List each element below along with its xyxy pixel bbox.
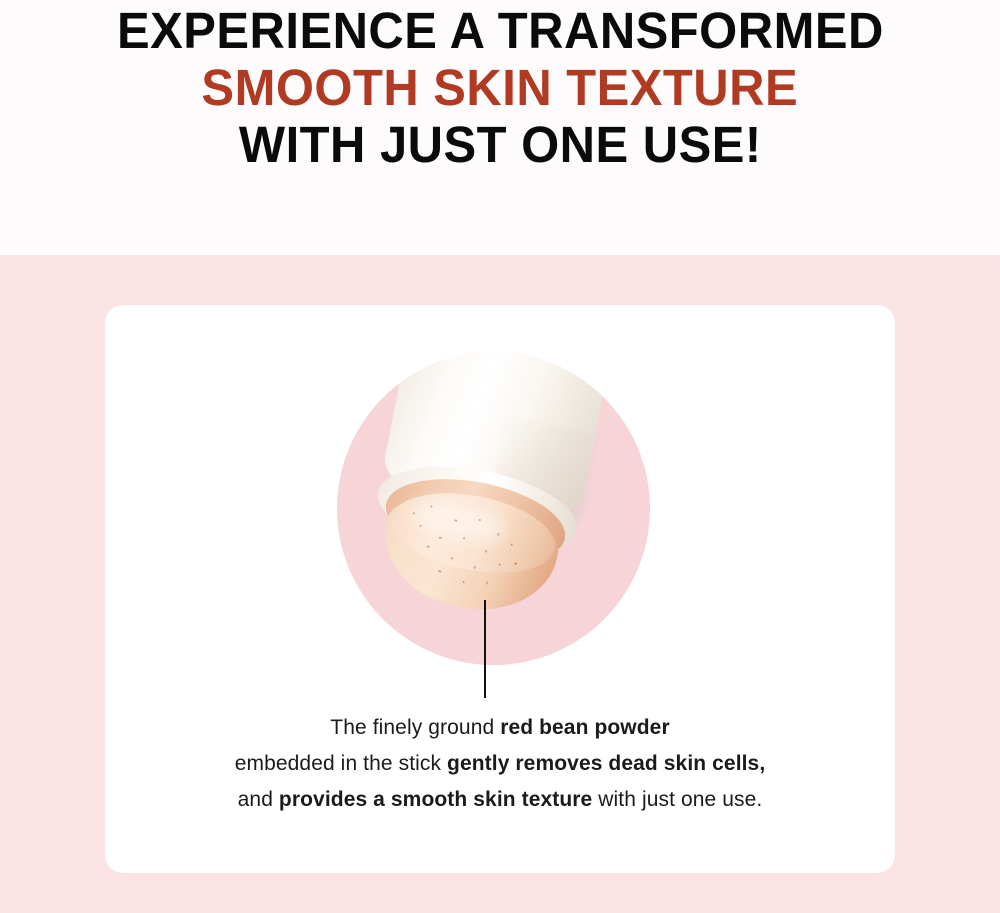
headline-line-2-accent: SMOOTH SKIN TEXTURE — [202, 59, 799, 116]
content-card: The finely ground red bean powder embedd… — [105, 305, 895, 873]
headline-section: EXPERIENCE A TRANSFORMED SMOOTH SKIN TEX… — [0, 0, 1000, 255]
powder-speck — [439, 537, 442, 540]
promotional-banner: EXPERIENCE A TRANSFORMED SMOOTH SKIN TEX… — [0, 0, 1000, 913]
caption-line-3: and provides a smooth skin texture with … — [105, 782, 895, 818]
caption-text: The finely ground — [330, 716, 500, 739]
caption-text: with just one use. — [592, 788, 762, 811]
product-caption: The finely ground red bean powder embedd… — [105, 710, 895, 818]
caption-line-1: The finely ground red bean powder — [105, 710, 895, 746]
caption-text: and — [238, 788, 279, 811]
headline-line-1: EXPERIENCE A TRANSFORMED — [117, 2, 884, 59]
caption-bold: red bean powder — [500, 716, 670, 739]
product-photo — [337, 352, 650, 665]
callout-pointer-line — [484, 600, 486, 698]
powder-speck — [514, 562, 517, 565]
caption-line-2: embedded in the stick gently removes dea… — [105, 746, 895, 782]
product-image-stage — [105, 305, 895, 705]
caption-bold: gently removes dead skin cells, — [447, 752, 765, 775]
powder-speck — [454, 519, 457, 522]
caption-bold: provides a smooth skin texture — [279, 788, 592, 811]
powder-speck — [427, 545, 430, 548]
powder-speck — [438, 570, 441, 573]
caption-text: embedded in the stick — [235, 752, 447, 775]
exfoliating-stick — [349, 352, 626, 641]
headline-line-3: WITH JUST ONE USE! — [239, 116, 762, 173]
